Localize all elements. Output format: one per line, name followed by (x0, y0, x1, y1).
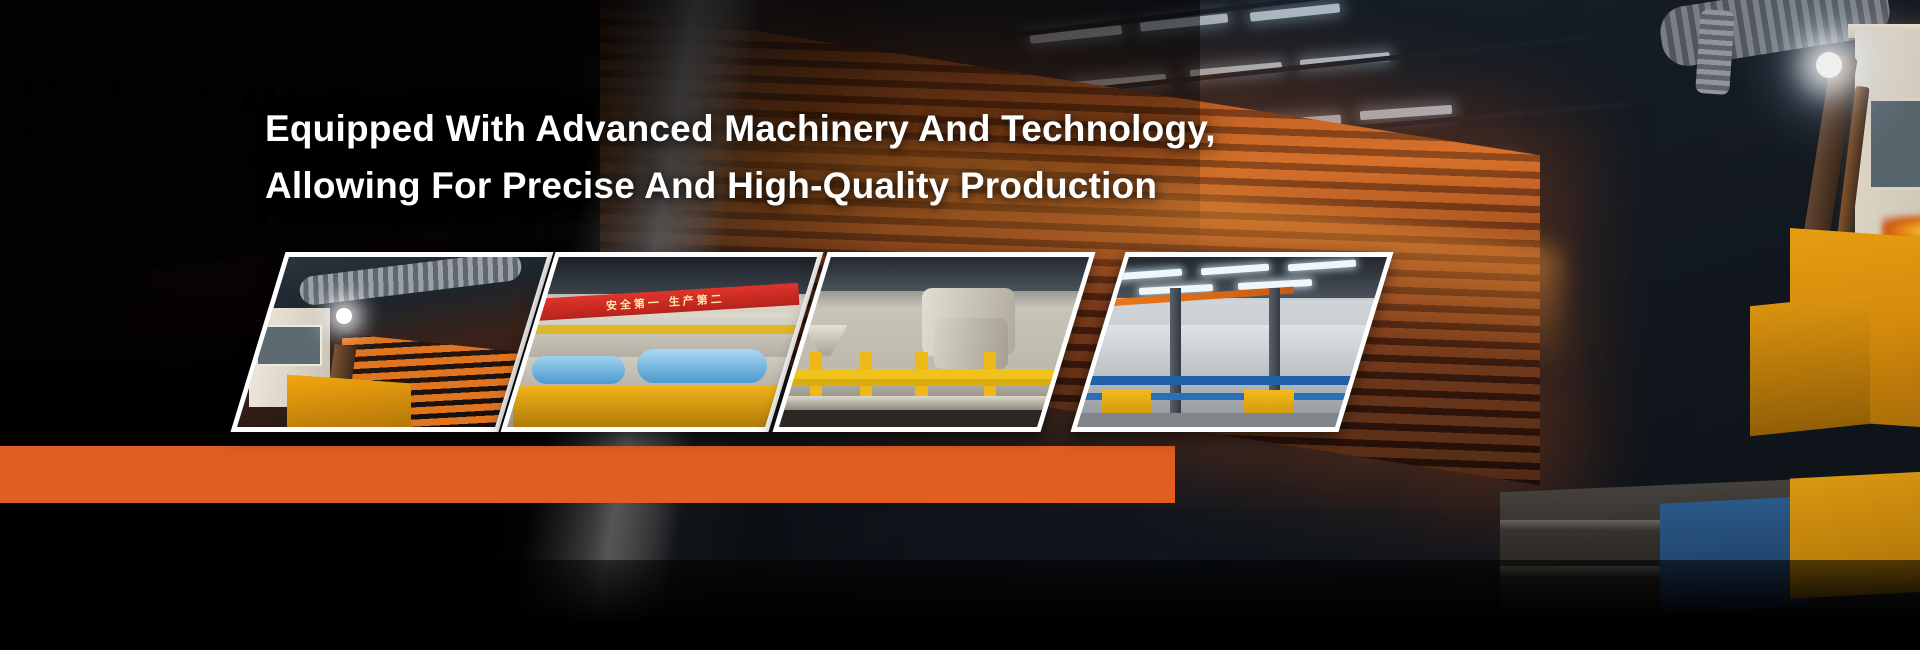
photo-image-rolling-mill (1077, 257, 1387, 427)
wall (1077, 325, 1387, 383)
yellow-machine (287, 375, 411, 427)
gallery-photo-silo-platform[interactable] (772, 252, 1095, 432)
photo-image-pressure-vessels: 安全第一 生产第二 (507, 257, 817, 427)
yellow-walkway-rail (526, 325, 799, 334)
workshop-floor (1077, 413, 1387, 427)
photo-frame-inner: 安全第一 生产第二 (507, 257, 817, 427)
yellow-guard-rail (785, 369, 1083, 379)
photo-frame-inner (237, 257, 547, 427)
photo-image-silo-platform (779, 257, 1089, 427)
photo-frame-inner (779, 257, 1089, 427)
pressure-vessel (532, 356, 625, 385)
safety-banner-text: 安全第一 生产第二 (605, 290, 725, 313)
silo-lower (934, 318, 1008, 369)
hero-banner: Equipped With Advanced Machinery And Tec… (0, 0, 1920, 650)
photo-frame-inner (1077, 257, 1387, 427)
yellow-base-frame (513, 386, 811, 427)
blue-frame-rail (1083, 376, 1381, 385)
platform-deck (779, 396, 1089, 410)
gallery-photo-caster[interactable] (230, 252, 553, 432)
roof (779, 257, 1089, 291)
gallery-photo-pressure-vessels[interactable]: 安全第一 生产第二 (500, 252, 823, 432)
work-light (336, 308, 352, 324)
understructure-shadow (779, 410, 1089, 427)
gallery-photo-rolling-mill[interactable] (1070, 252, 1393, 432)
duct-icon (298, 257, 523, 306)
yellow-guard-rail-lower (785, 379, 1083, 386)
pressure-vessel (637, 349, 767, 383)
cabin-window (256, 325, 322, 366)
photo-image-caster (237, 257, 547, 427)
photo-strip: 安全第一 生产第二 (0, 0, 1920, 650)
hopper (804, 325, 847, 356)
